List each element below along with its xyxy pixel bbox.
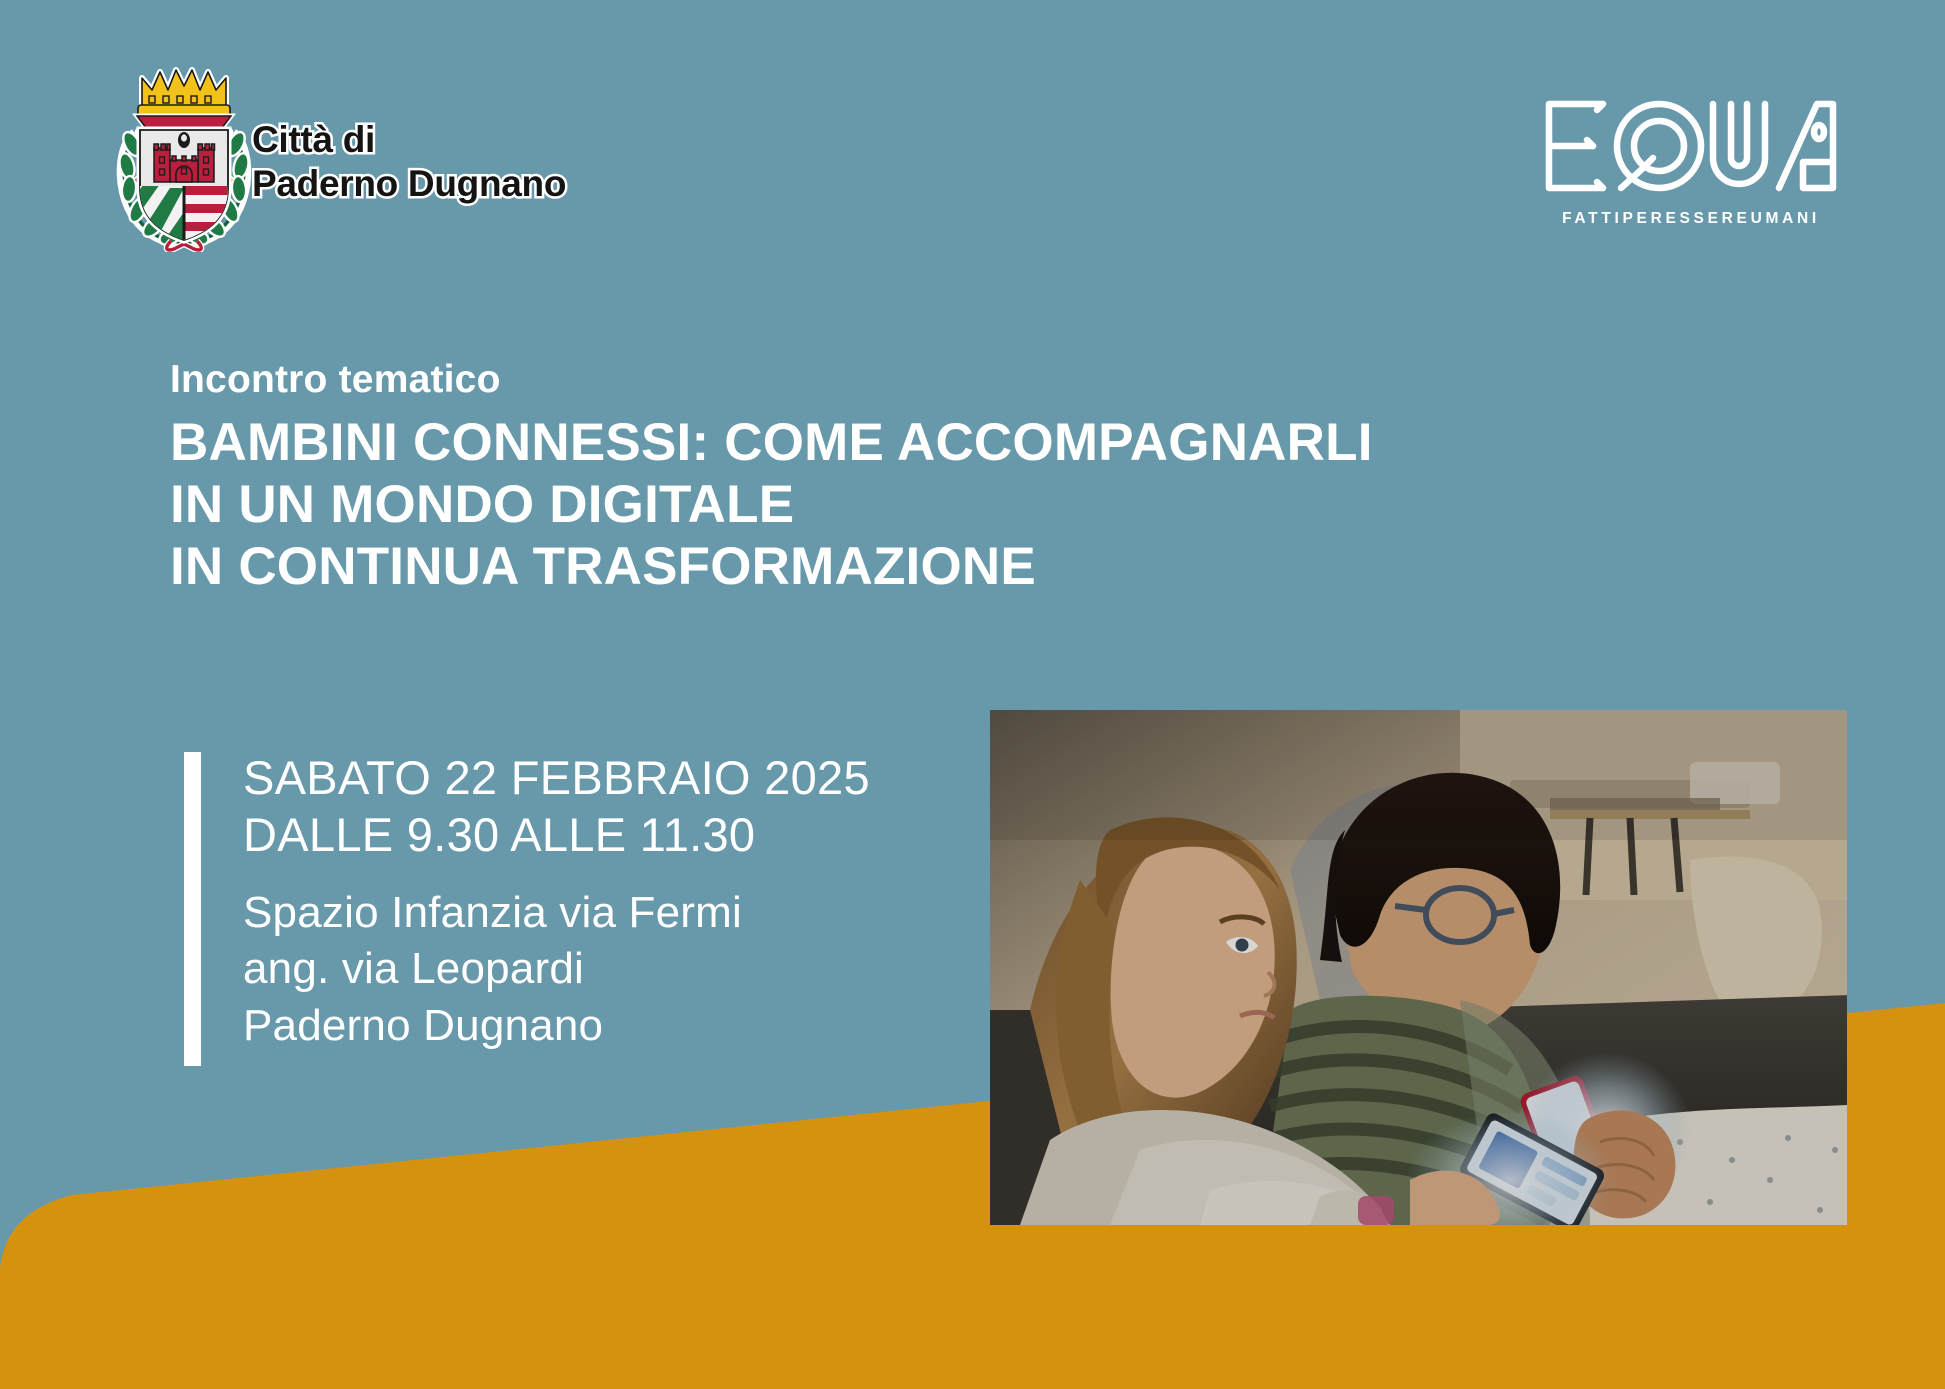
city-crest-icon [104, 52, 264, 252]
event-venue: Spazio Infanzia via Fermi ang. via Leopa… [243, 885, 742, 1054]
equa-tagline: FATTIPERESSEREUMANI [1541, 210, 1841, 228]
event-title: BAMBINI CONNESSI: COME ACCOMPAGNARLI IN … [170, 412, 1373, 598]
detail-accent-bar [184, 752, 201, 1066]
event-poster: Città di Paderno Dugnano FATTIPERESSEREU… [0, 0, 1945, 1389]
event-date-time: SABATO 22 FEBBRAIO 2025 DALLE 9.30 ALLE … [243, 749, 870, 864]
municipality-name: Città di Paderno Dugnano [252, 118, 566, 205]
event-photo [990, 710, 1847, 1225]
event-kicker: Incontro tematico [170, 358, 501, 402]
equa-logo [1541, 96, 1841, 196]
